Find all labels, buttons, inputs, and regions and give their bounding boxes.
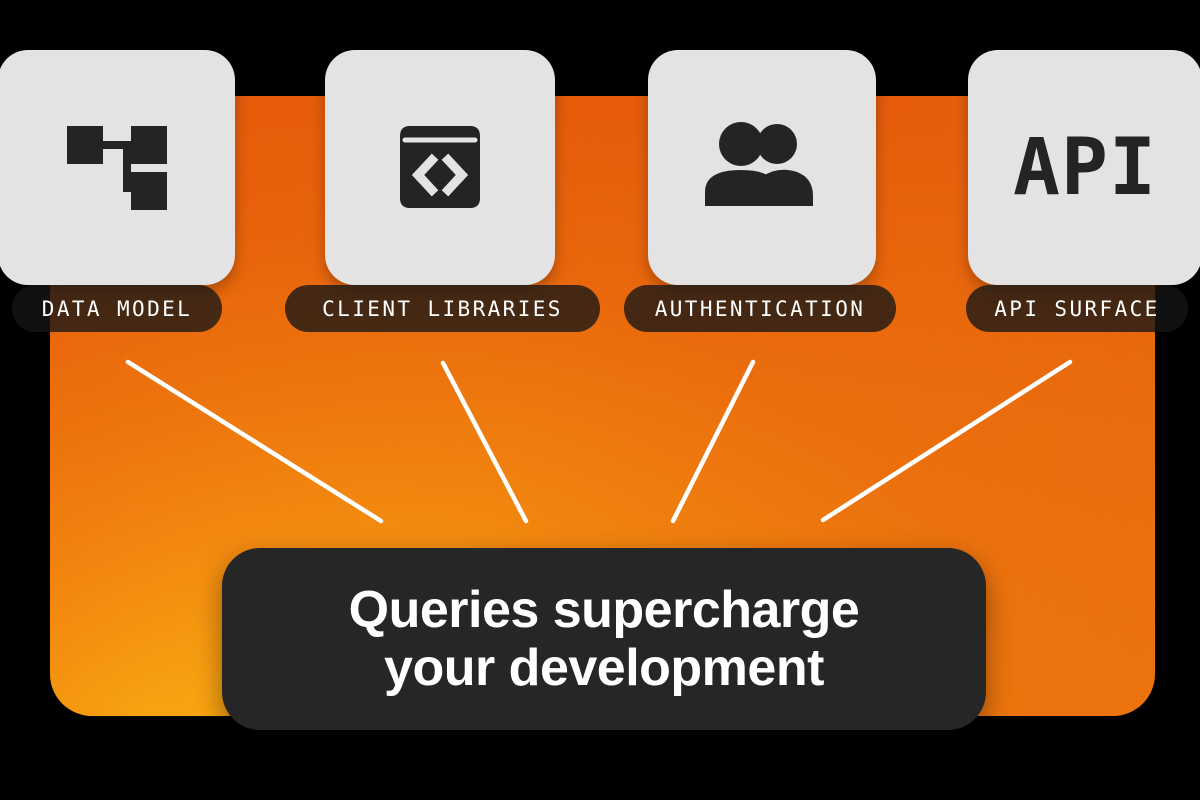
connector-line-4: [823, 362, 1070, 520]
card-label-text: DATA MODEL: [42, 297, 192, 321]
headline-line-1: Queries supercharge: [349, 581, 860, 639]
feature-card-api-surface[interactable]: API: [968, 50, 1200, 285]
headline-line-2: your development: [384, 639, 824, 697]
feature-card-client-libraries[interactable]: [325, 50, 555, 285]
connector-line-1: [128, 362, 381, 521]
card-label-pill-client-libraries[interactable]: CLIENT LIBRARIES: [285, 285, 600, 332]
code-box-icon: [390, 118, 490, 218]
poster-canvas: API DATA MODEL CLIENT LIBRARIES AUTHENTI…: [0, 0, 1200, 800]
data-model-icon: [65, 118, 169, 218]
card-label-pill-data-model[interactable]: DATA MODEL: [12, 285, 222, 332]
card-label-pill-api-surface[interactable]: API SURFACE: [966, 285, 1188, 332]
feature-card-data-model[interactable]: [0, 50, 235, 285]
card-label-text: API SURFACE: [994, 297, 1159, 321]
headline-card: Queries supercharge your development: [222, 548, 986, 730]
two-people-icon: [701, 122, 823, 214]
headline-text: Queries supercharge your development: [323, 581, 886, 697]
card-label-pill-authentication[interactable]: AUTHENTICATION: [624, 285, 896, 332]
connector-line-3: [673, 362, 753, 521]
api-text-icon: API: [1013, 123, 1157, 213]
card-label-text: CLIENT LIBRARIES: [322, 297, 563, 321]
card-label-text: AUTHENTICATION: [655, 297, 866, 321]
feature-card-authentication[interactable]: [648, 50, 876, 285]
connector-line-2: [443, 363, 526, 521]
